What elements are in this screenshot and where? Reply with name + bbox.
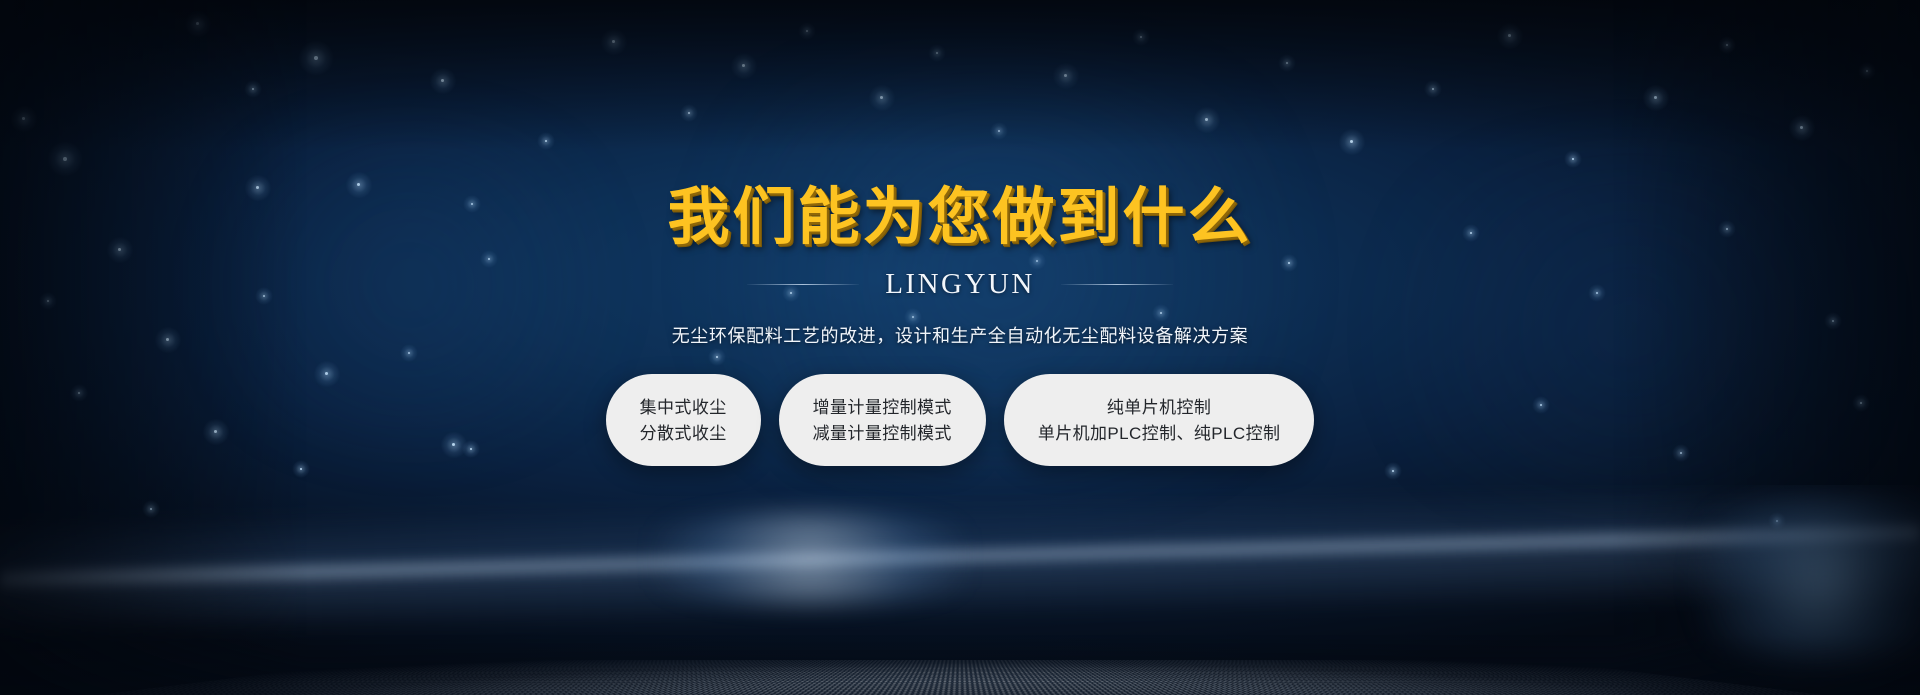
page-title: 我们能为您做到什么: [667, 186, 1252, 248]
feature-card-controller-options[interactable]: 纯单片机控制 单片机加PLC控制、纯PLC控制: [1004, 374, 1315, 466]
card-line: 单片机加PLC控制、纯PLC控制: [1038, 425, 1281, 442]
banner-content: 我们能为您做到什么 LINGYUN 无尘环保配料工艺的改进，设计和生产全自动化无…: [0, 0, 1920, 695]
feature-card-dust-collection[interactable]: 集中式收尘 分散式收尘: [606, 374, 761, 466]
hero-banner: 我们能为您做到什么 LINGYUN 无尘环保配料工艺的改进，设计和生产全自动化无…: [0, 0, 1920, 695]
card-line: 纯单片机控制: [1107, 399, 1211, 416]
card-line: 集中式收尘: [640, 399, 727, 416]
divider-line-right: [1061, 284, 1173, 285]
brand-subtitle-row: LINGYUN: [747, 268, 1173, 301]
feature-card-metering-control-mode[interactable]: 增量计量控制模式 减量计量控制模式: [779, 374, 986, 466]
card-line: 增量计量控制模式: [813, 399, 952, 416]
card-line: 减量计量控制模式: [813, 425, 952, 442]
brand-name-en: LINGYUN: [885, 268, 1035, 301]
banner-description: 无尘环保配料工艺的改进，设计和生产全自动化无尘配料设备解决方案: [672, 322, 1249, 348]
card-line: 分散式收尘: [640, 425, 727, 442]
feature-card-list: 集中式收尘 分散式收尘 增量计量控制模式 减量计量控制模式 纯单片机控制 单片机…: [606, 374, 1315, 466]
divider-line-left: [747, 284, 859, 285]
